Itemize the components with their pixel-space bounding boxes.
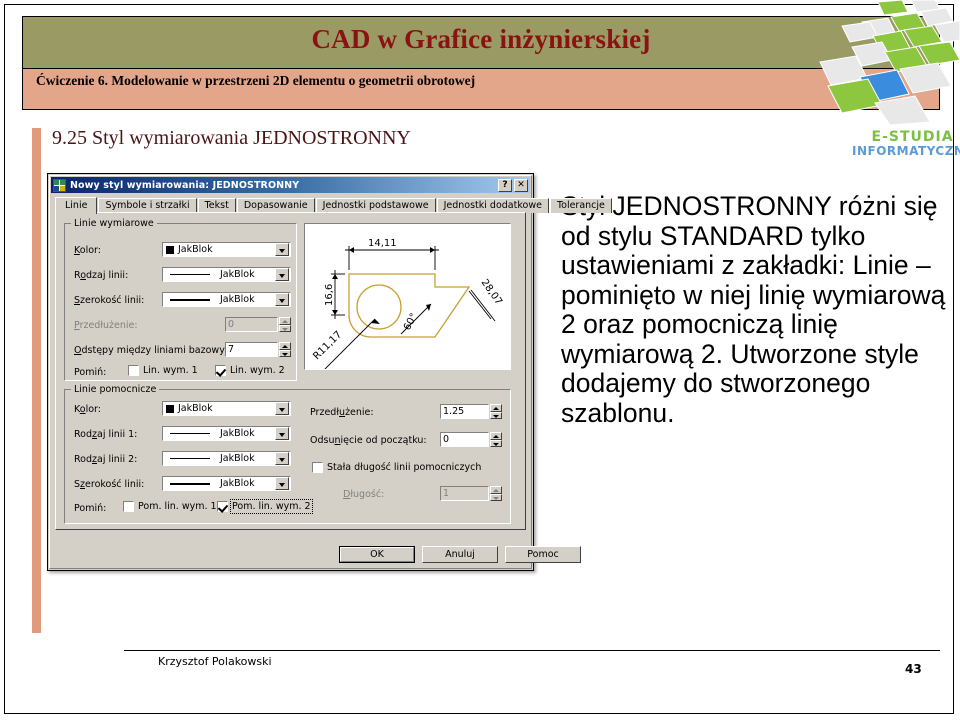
label-dimline-lineweight: Szerokość linii: — [74, 295, 144, 306]
footer-divider — [124, 650, 940, 651]
spinner-down-icon[interactable] — [490, 412, 502, 420]
spinner-up-icon[interactable] — [490, 404, 502, 412]
combo-extline-color[interactable]: JakBlok — [162, 401, 291, 416]
spinner-dimline-extend-value[interactable]: 0 — [225, 317, 278, 332]
preview-dim-angle: 60° — [402, 312, 420, 333]
checkbox-box-icon — [128, 365, 139, 376]
dimension-preview: 14,11 16,6 28,07 60° R11,17 — [304, 223, 511, 370]
tab-panel-linie: Linie wymiarowe Kolor: JakBlok Rodzaj li… — [55, 212, 526, 530]
group-dimension-lines-title: Linie wymiarowe — [71, 218, 157, 229]
checkbox-suppress-dimline-1-label: Lin. wym. 1 — [143, 365, 198, 376]
label-extline-offset: Odsunięcie od początku: — [310, 435, 427, 446]
combo-extline-color-value-wrap: JakBlok — [163, 403, 275, 414]
combo-dimline-linetype-value: JakBlok — [220, 269, 255, 280]
label-extline-color: Kolor: — [74, 404, 101, 415]
checkbox-suppress-extline-2-label: Pom. lin. wym. 2 — [232, 501, 311, 512]
label-extline-lineweight: Szerokość linii: — [74, 479, 144, 490]
chevron-down-icon[interactable] — [275, 477, 289, 490]
spinner-down-icon[interactable] — [490, 440, 502, 448]
combo-extline-linetype2-value-wrap: JakBlok — [163, 453, 275, 464]
checkbox-fixed-length[interactable]: Stała długość linii pomocniczych — [312, 462, 481, 473]
line-sample-icon — [170, 458, 210, 459]
spinner-up-icon[interactable] — [490, 432, 502, 440]
checkbox-fixed-length-label: Stała długość linii pomocniczych — [327, 462, 481, 473]
label-dimline-color: Kolor: — [74, 245, 101, 256]
spinner-down-icon[interactable] — [279, 325, 291, 333]
checkbox-suppress-extline-1-label: Pom. lin. wym. 1 — [138, 501, 217, 512]
line-sample-icon — [170, 433, 210, 434]
checkbox-suppress-dimline-2[interactable]: Lin. wym. 2 — [215, 365, 285, 376]
dialog-titlebar[interactable]: Nowy styl wymiarowania: JEDNOSTRONNY ? ✕ — [51, 177, 530, 193]
spinner-dimline-extend-buttons — [279, 317, 291, 332]
dialog-title: Nowy styl wymiarowania: JEDNOSTRONNY — [70, 180, 299, 191]
spinner-extline-extend[interactable]: 1.25 — [440, 404, 502, 419]
preview-dim-right: 28,07 — [479, 277, 504, 307]
chevron-down-icon[interactable] — [275, 243, 289, 256]
decorative-tiles-graphic — [790, 0, 960, 125]
group-extension-lines: Linie pomocnicze Kolor: JakBlok Rodzaj l… — [64, 389, 511, 524]
spinner-extline-extend-value[interactable]: 1.25 — [440, 404, 489, 419]
preview-dim-radius: R11,17 — [311, 329, 344, 362]
dialog-tabstrip: Linie Symbole i strzałki Tekst Dopasowan… — [55, 196, 526, 213]
spinner-down-icon[interactable] — [490, 494, 502, 502]
ok-button-label: OK — [340, 547, 414, 562]
combo-extline-lineweight-value-wrap: JakBlok — [163, 478, 275, 489]
spinner-up-icon[interactable] — [490, 486, 502, 494]
page-subtitle: Ćwiczenie 6. Modelowanie w przestrzeni 2… — [36, 73, 475, 89]
label-extline-linetype2: Rodzaj linii 2: — [74, 454, 137, 465]
spinner-offset-buttons — [490, 432, 502, 447]
tab-jednostki-podstawowe[interactable]: Jednostki podstawowe — [316, 198, 436, 213]
label-dimline-suppress: Pomiń: — [74, 367, 106, 378]
color-swatch-icon — [166, 246, 174, 254]
spinner-extend-buttons — [490, 404, 502, 419]
label-dimline-linetype: Rodzaj linii: — [74, 270, 128, 281]
spinner-down-icon[interactable] — [279, 350, 291, 358]
close-icon[interactable]: ✕ — [514, 179, 528, 192]
checkbox-suppress-extline-2[interactable]: Pom. lin. wym. 2 — [217, 501, 311, 512]
label-dimline-extend: Przedłużenie: — [74, 320, 138, 331]
estudia-logo: E-STUDIA INFORMATYCZNE — [852, 130, 960, 157]
spinner-extline-offset[interactable]: 0 — [440, 432, 502, 447]
left-accent-bar — [32, 128, 41, 633]
help-icon[interactable]: ? — [498, 179, 512, 192]
body-paragraph: Styl JEDNOSTRONNY różni się od stylu STA… — [561, 192, 951, 428]
help-button[interactable]: Pomoc — [505, 546, 581, 563]
label-extline-linetype1: Rodzaj linii 1: — [74, 429, 137, 440]
preview-dim-top: 14,11 — [368, 238, 397, 249]
spinner-up-icon[interactable] — [279, 317, 291, 325]
lineweight-sample-icon — [170, 299, 210, 301]
chevron-down-icon[interactable] — [275, 452, 289, 465]
page-number: 43 — [905, 662, 922, 676]
combo-extline-lineweight[interactable]: JakBlok — [162, 476, 291, 491]
ok-button[interactable]: OK — [339, 546, 415, 563]
checkbox-suppress-extline-1[interactable]: Pom. lin. wym. 1 — [123, 501, 217, 512]
chevron-down-icon[interactable] — [275, 268, 289, 281]
logo-line-1: E-STUDIA — [852, 130, 960, 145]
chevron-down-icon[interactable] — [275, 427, 289, 440]
combo-dimline-color-value: JakBlok — [178, 244, 213, 255]
preview-dim-left: 16,6 — [324, 284, 335, 306]
combo-extline-linetype2-value: JakBlok — [220, 453, 255, 464]
checkbox-box-checked-icon — [217, 501, 228, 512]
spinner-baseline-buttons — [279, 342, 291, 357]
spinner-dimline-baseline-spacing[interactable]: 7 — [225, 342, 291, 357]
combo-dimline-color-value-wrap: JakBlok — [163, 244, 275, 255]
checkbox-box-icon — [123, 501, 134, 512]
spinner-dimline-extend[interactable]: 0 — [225, 317, 291, 332]
autocad-icon — [53, 179, 66, 192]
slide-canvas: CAD w Grafice inżynierskiej Ćwiczenie 6.… — [0, 0, 960, 720]
label-extline-suppress: Pomiń: — [74, 503, 106, 514]
checkbox-box-icon — [312, 462, 323, 473]
dimension-style-dialog: Nowy styl wymiarowania: JEDNOSTRONNY ? ✕… — [47, 173, 534, 571]
combo-extline-color-value: JakBlok — [178, 403, 213, 414]
tab-symbole-i-strzalki[interactable]: Symbole i strzałki — [98, 198, 196, 213]
spinner-extline-offset-value[interactable]: 0 — [440, 432, 489, 447]
color-swatch-icon — [166, 405, 174, 413]
line-sample-icon — [170, 274, 210, 275]
titlebar-buttons: ? ✕ — [498, 179, 528, 192]
chevron-down-icon[interactable] — [275, 402, 289, 415]
combo-dimline-linetype-value-wrap: JakBlok — [163, 269, 275, 280]
combo-dimline-lineweight-value: JakBlok — [220, 294, 255, 305]
label-extline-extend: Przedłużenie: — [310, 407, 374, 418]
checkbox-suppress-dimline-1[interactable]: Lin. wym. 1 — [128, 365, 198, 376]
combo-extline-linetype1[interactable]: JakBlok — [162, 426, 291, 441]
combo-dimline-color[interactable]: JakBlok — [162, 242, 291, 257]
spinner-length-buttons — [490, 486, 502, 501]
combo-dimline-lineweight-value-wrap: JakBlok — [163, 294, 275, 305]
combo-dimline-lineweight[interactable]: JakBlok — [162, 292, 291, 307]
spinner-extline-length[interactable]: 1 — [440, 486, 502, 501]
checkbox-box-checked-icon — [215, 365, 226, 376]
combo-dimline-linetype[interactable]: JakBlok — [162, 267, 291, 282]
chevron-down-icon[interactable] — [275, 293, 289, 306]
tab-linie[interactable]: Linie — [55, 197, 97, 214]
logo-line-2: INFORMATYCZNE — [852, 145, 960, 158]
combo-extline-linetype2[interactable]: JakBlok — [162, 451, 291, 466]
combo-extline-lineweight-value: JakBlok — [220, 478, 255, 489]
tab-tolerancje[interactable]: Tolerancje — [550, 198, 612, 213]
tab-jednostki-dodatkowe[interactable]: Jednostki dodatkowe — [437, 198, 549, 213]
spinner-extline-length-value[interactable]: 1 — [440, 486, 489, 501]
group-dimension-lines: Linie wymiarowe Kolor: JakBlok Rodzaj li… — [64, 223, 297, 381]
checkbox-suppress-dimline-2-label: Lin. wym. 2 — [230, 365, 285, 376]
lineweight-sample-icon — [170, 483, 210, 485]
spinner-dimline-baseline-spacing-value[interactable]: 7 — [225, 342, 278, 357]
combo-extline-linetype1-value-wrap: JakBlok — [163, 428, 275, 439]
label-dimline-baseline-spacing: Odstępy między liniami bazowymi: — [74, 345, 240, 356]
tab-dopasowanie[interactable]: Dopasowanie — [237, 198, 315, 213]
section-heading: 9.25 Styl wymiarowania JEDNOSTRONNY — [52, 127, 411, 150]
footer-author: Krzysztof Polakowski — [158, 655, 272, 668]
combo-extline-linetype1-value: JakBlok — [220, 428, 255, 439]
tab-tekst[interactable]: Tekst — [198, 198, 236, 213]
group-extension-lines-title: Linie pomocnicze — [71, 384, 159, 395]
cancel-button[interactable]: Anuluj — [422, 546, 498, 563]
label-extline-length: Długość: — [343, 489, 384, 500]
spinner-up-icon[interactable] — [279, 342, 291, 350]
